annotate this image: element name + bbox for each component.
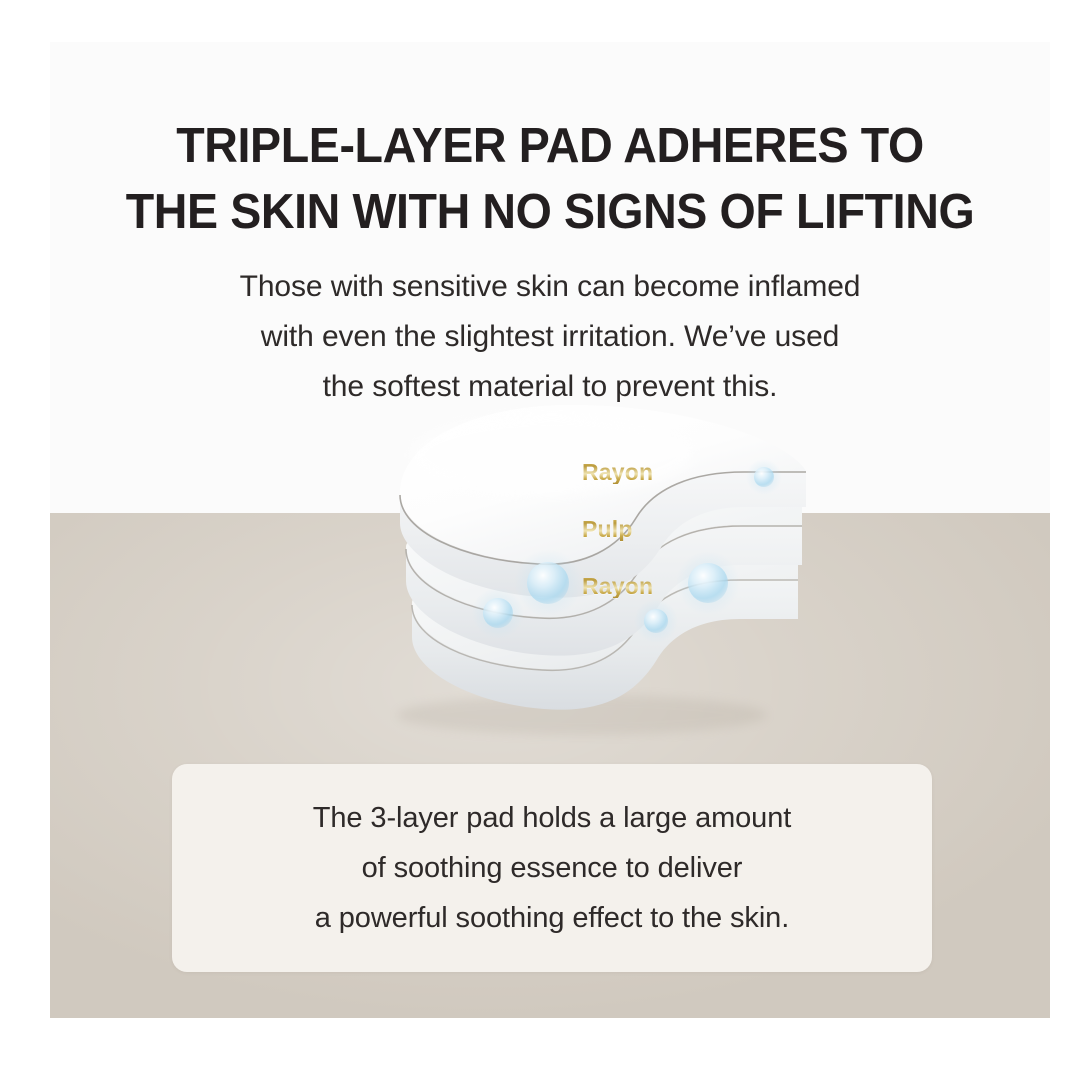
subtitle-text: Those with sensitive skin can become inf… xyxy=(50,262,1050,412)
caption-text: The 3-layer pad holds a large amount of … xyxy=(313,793,791,943)
callout-label: Rayon xyxy=(582,461,653,484)
poster-canvas: TRIPLE-LAYER PAD ADHERES TO THE SKIN WIT… xyxy=(0,0,1080,1080)
callout-label: Rayon xyxy=(582,575,653,598)
content-frame: TRIPLE-LAYER PAD ADHERES TO THE SKIN WIT… xyxy=(50,42,1050,1018)
pad-illustration: Rayon Pulp Rayon xyxy=(320,397,880,737)
callout-label: Pulp xyxy=(582,518,633,541)
page-title: TRIPLE-LAYER PAD ADHERES TO THE SKIN WIT… xyxy=(75,113,1025,245)
caption-card: The 3-layer pad holds a large amount of … xyxy=(172,764,932,972)
callout-group: Rayon Pulp Rayon xyxy=(320,397,880,737)
